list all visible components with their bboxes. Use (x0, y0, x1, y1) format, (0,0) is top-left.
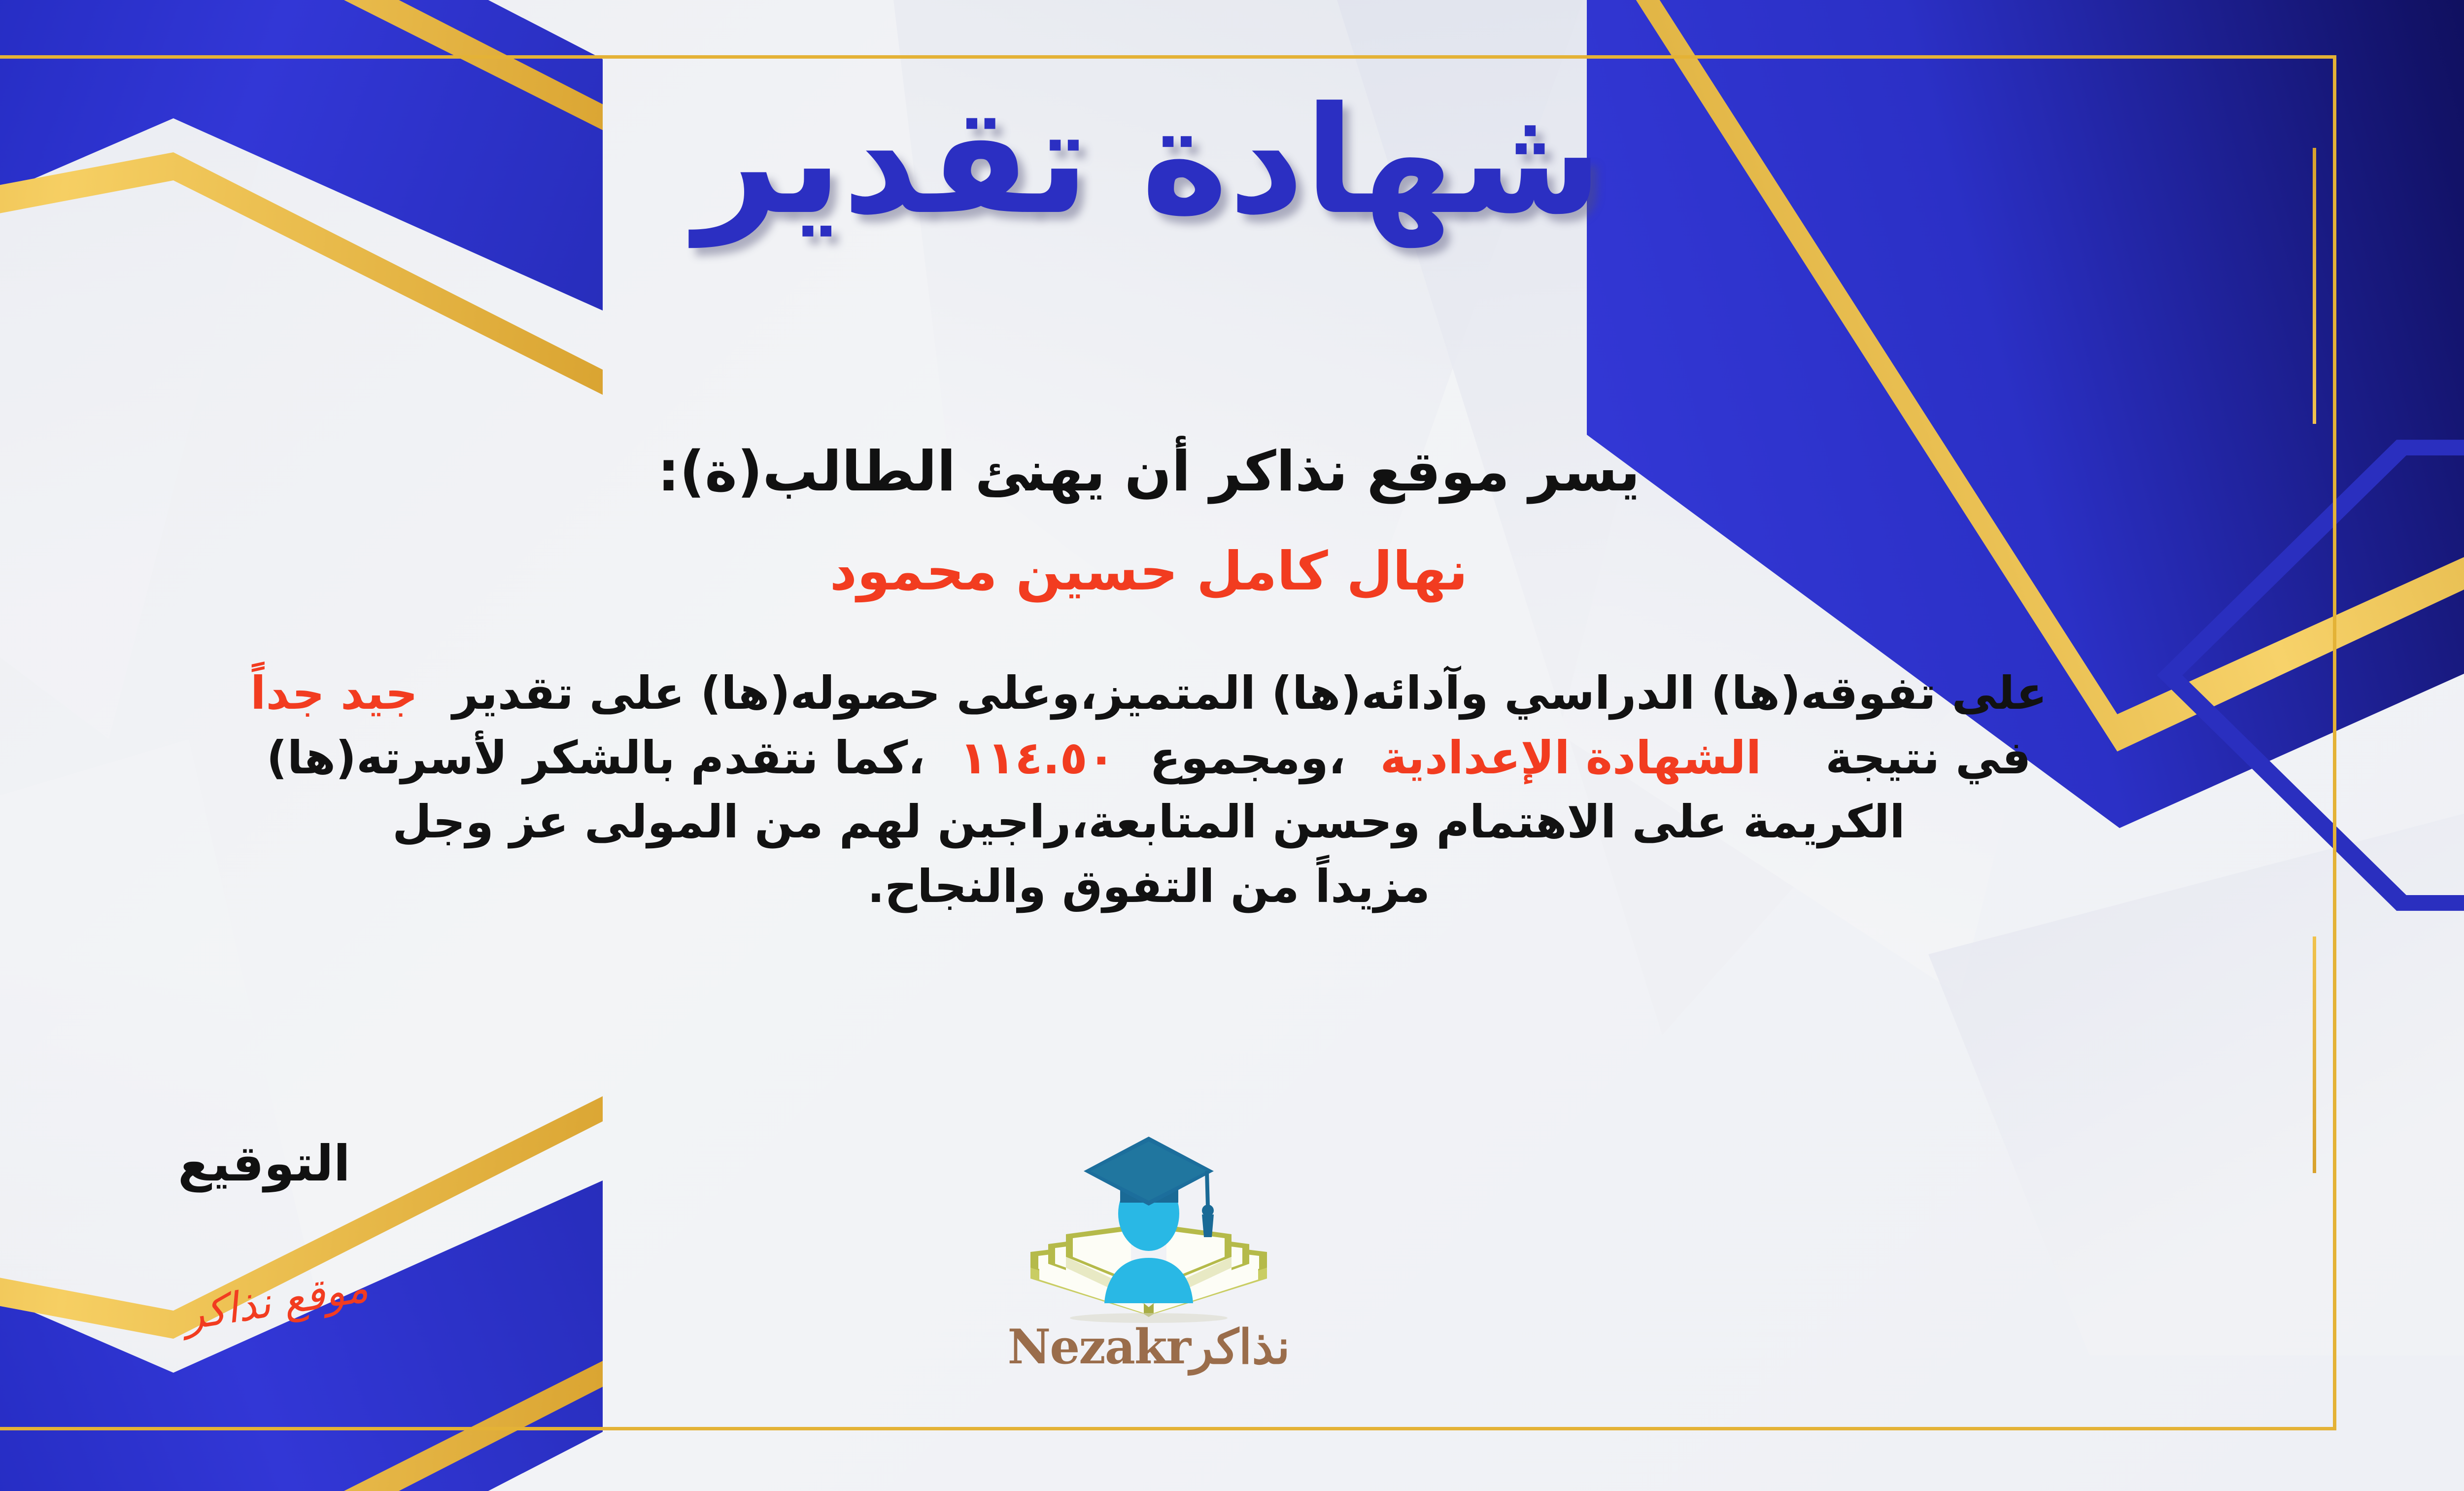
citation-line-4: مزيداً من التفوق والنجاح. (0, 855, 2307, 919)
citation-body: على تفوقه(ها) الدراسي وآدائه(ها) المتميز… (0, 661, 2307, 919)
citation-line-2: في نتيجةالشهادة الإعدادية،ومجموع١١٤.٥٠،ك… (0, 726, 2307, 791)
total-score: ١١٤.٥٠ (959, 731, 1115, 784)
signature-label: التوقيع (178, 1135, 350, 1192)
citation-text: ،ومجموع (1150, 731, 1346, 784)
citation-text: ،كما نتقدم بالشكر لأسرته(ها) (267, 731, 925, 784)
certificate-canvas: شهادة تقدير يسر موقع نذاكر أن يهنئ الطال… (0, 0, 2464, 1491)
exam-name: الشهادة الإعدادية (1380, 731, 1762, 784)
greeting-line: يسر موقع نذاكر أن يهنئ الطالب(ة): (0, 440, 2336, 504)
citation-line-1: على تفوقه(ها) الدراسي وآدائه(ها) المتميز… (0, 661, 2307, 726)
citation-line-3: الكريمة على الاهتمام وحسن المتابعة،راجين… (0, 790, 2307, 855)
certificate-title: شهادة تقدير (0, 75, 2336, 247)
site-logo: نذاكرNezakr (961, 1120, 1336, 1375)
citation-text: في نتيجة (1825, 731, 2031, 784)
logo-wordmark: نذاكرNezakr (961, 1319, 1336, 1375)
certificate-content: شهادة تقدير يسر موقع نذاكر أن يهنئ الطال… (0, 55, 2336, 1430)
grade-value: جيد جداً (250, 667, 418, 720)
graduation-book-icon (1011, 1120, 1287, 1332)
signature-handwriting: موقع نذاكر (180, 1263, 372, 1340)
citation-text: على تفوقه(ها) الدراسي وآدائه(ها) المتميز… (452, 667, 2047, 720)
logo-name-arabic: نذاكر (1190, 1319, 1290, 1375)
student-name: نهال كامل حسين محمود (0, 541, 2336, 602)
logo-name-latin: Nezakr (1007, 1319, 1190, 1375)
